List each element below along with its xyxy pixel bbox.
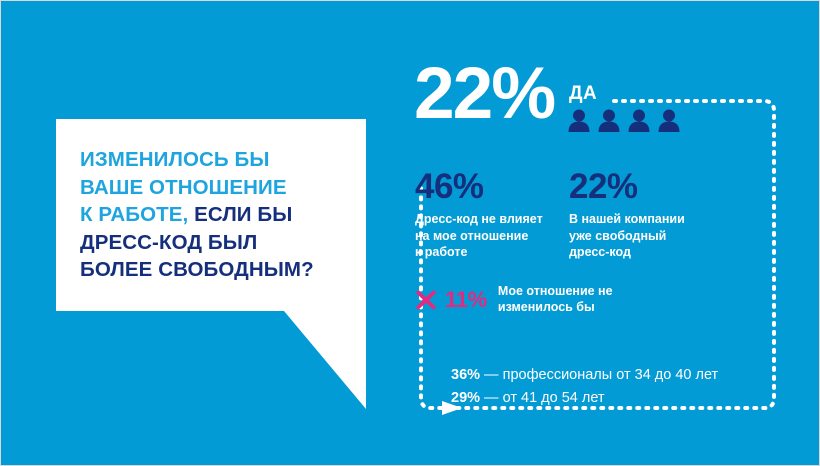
age-breakdown-list: 36% — профессионалы от 34 до 40 лет 29% …: [451, 364, 811, 410]
stat-description-line: дресс-код: [569, 244, 729, 261]
question-speech-bubble: ИЗМЕНИЛОСЬ БЫ ВАШЕ ОТНОШЕНИЕ К РАБОТЕ, Е…: [56, 119, 366, 409]
question-line-5-navy: БОЛЕЕ СВОБОДНЫМ?: [80, 258, 314, 281]
stat-description-line: В нашей компании: [569, 211, 729, 228]
age-dash: —: [480, 390, 503, 406]
stat-description-line: к работе: [415, 244, 575, 261]
negative-description-line: изменилось бы: [498, 300, 613, 316]
question-line-4-navy: ДРЕСС-КОД БЫЛ: [80, 231, 257, 254]
stat-description-line: на мое отношение: [415, 228, 575, 245]
speech-bubble-tail: [284, 311, 366, 409]
statistics-panel: 22% ДА: [411, 56, 806, 426]
negative-percent: 11%: [445, 287, 487, 313]
negative-description: Мое отношение не изменилось бы: [498, 284, 613, 315]
question-line-1-cyan: ИЗМЕНИЛОСЬ БЫ: [80, 148, 270, 171]
question-text: ИЗМЕНИЛОСЬ БЫ ВАШЕ ОТНОШЕНИЕ К РАБОТЕ, Е…: [80, 146, 350, 284]
person-icon: [628, 108, 650, 132]
headline-percent: 22%: [414, 54, 554, 134]
x-icon: [415, 289, 437, 311]
age-text: профессионалы от 34 до 40 лет: [503, 367, 719, 383]
age-percent: 29%: [451, 390, 480, 406]
age-dash: —: [480, 367, 503, 383]
question-line-2-cyan: ВАШЕ ОТНОШЕНИЕ: [80, 176, 287, 199]
stat-description: В нашей компании уже свободный дресс-код: [569, 211, 729, 261]
stat-item-11-negative: 11% Мое отношение не изменилось бы: [415, 284, 613, 315]
person-icon: [568, 108, 590, 132]
stat-percent: 22%: [569, 168, 729, 206]
stat-description-line: Дресс-код не влияет: [415, 211, 575, 228]
question-line-5: БОЛЕЕ СВОБОДНЫМ?: [80, 256, 350, 284]
question-line-4: ДРЕСС-КОД БЫЛ: [80, 229, 350, 257]
question-line-1: ИЗМЕНИЛОСЬ БЫ: [80, 146, 350, 174]
stat-percent: 46%: [415, 168, 575, 206]
age-text: от 41 до 54 лет: [503, 390, 605, 406]
stat-item-22: 22% В нашей компании уже свободный дресс…: [569, 168, 729, 261]
age-breakdown-row: 36% — профессионалы от 34 до 40 лет: [451, 364, 811, 387]
stat-description-line: уже свободный: [569, 228, 729, 245]
age-breakdown-row: 29% — от 41 до 54 лет: [451, 387, 811, 410]
question-line-3: К РАБОТЕ, ЕСЛИ БЫ: [80, 201, 350, 229]
question-line-2: ВАШЕ ОТНОШЕНИЕ: [80, 174, 350, 202]
infographic-canvas: ИЗМЕНИЛОСЬ БЫ ВАШЕ ОТНОШЕНИЕ К РАБОТЕ, Е…: [0, 0, 820, 466]
person-icon: [598, 108, 620, 132]
stat-item-46: 46% Дресс-код не влияет на мое отношение…: [415, 168, 575, 261]
headline-label-yes: ДА: [569, 83, 597, 105]
stat-description: Дресс-код не влияет на мое отношение к р…: [415, 211, 575, 261]
question-line-3-navy: ЕСЛИ БЫ: [188, 203, 292, 226]
negative-description-line: Мое отношение не: [498, 284, 613, 300]
age-percent: 36%: [451, 367, 480, 383]
people-icon-group: [568, 108, 680, 132]
person-icon: [658, 108, 680, 132]
question-line-3-cyan: К РАБОТЕ,: [80, 203, 188, 226]
